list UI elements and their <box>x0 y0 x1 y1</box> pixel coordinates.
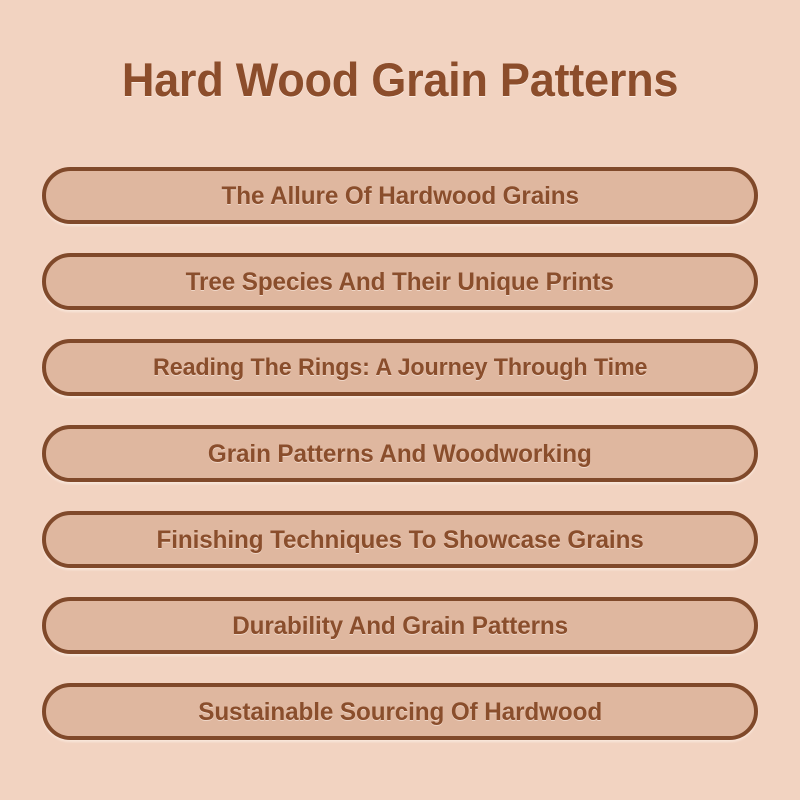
toc-item-1[interactable]: The Allure Of Hardwood Grains <box>42 167 758 224</box>
page-title: Hard Wood Grain Patterns <box>16 52 784 108</box>
toc-item-label: Tree Species And Their Unique Prints <box>186 268 614 296</box>
toc-item-label: Sustainable Sourcing Of Hardwood <box>198 698 602 726</box>
toc-item-label: Reading The Rings: A Journey Through Tim… <box>153 354 647 382</box>
toc-item-label: Durability And Grain Patterns <box>232 612 568 640</box>
infographic-page: Hard Wood Grain Patterns The Allure Of H… <box>0 0 800 800</box>
toc-item-3[interactable]: Reading The Rings: A Journey Through Tim… <box>42 339 758 396</box>
toc-item-6[interactable]: Durability And Grain Patterns <box>42 597 758 654</box>
toc-item-2[interactable]: Tree Species And Their Unique Prints <box>42 253 758 310</box>
toc-item-label: The Allure Of Hardwood Grains <box>221 182 578 210</box>
toc-item-5[interactable]: Finishing Techniques To Showcase Grains <box>42 511 758 568</box>
toc-item-4[interactable]: Grain Patterns And Woodworking <box>42 425 758 482</box>
table-of-contents-list: The Allure Of Hardwood Grains Tree Speci… <box>42 167 758 740</box>
toc-item-label: Grain Patterns And Woodworking <box>208 440 592 468</box>
toc-item-label: Finishing Techniques To Showcase Grains <box>156 526 643 554</box>
toc-item-7[interactable]: Sustainable Sourcing Of Hardwood <box>42 683 758 740</box>
